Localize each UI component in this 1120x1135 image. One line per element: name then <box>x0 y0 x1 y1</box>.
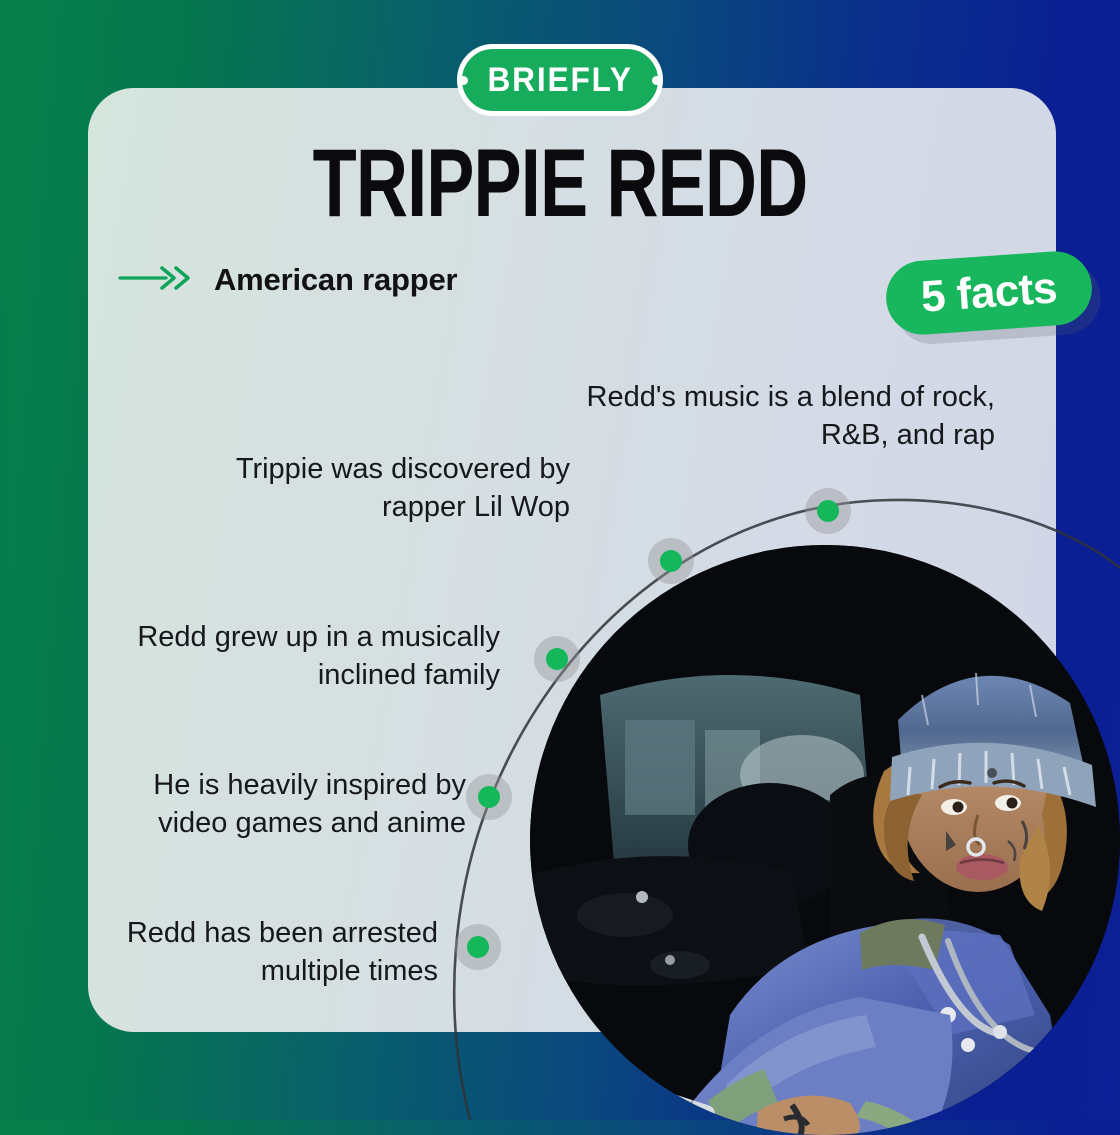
marker-dot-icon <box>478 786 500 808</box>
marker-dot-icon <box>467 936 489 958</box>
dot-icon-left <box>459 76 468 85</box>
double-chevron-right-arrow-icon <box>118 263 198 298</box>
fact-text-5: Redd has been arrested multiple times <box>90 914 438 991</box>
brand-name: BRIEFLY <box>487 61 632 100</box>
fact-text-4: He is heavily inspired by video games an… <box>78 766 466 843</box>
fact-text-3: Redd grew up in a musically inclined fam… <box>120 618 500 695</box>
dot-icon-right <box>652 76 661 85</box>
marker-dot-icon <box>660 550 682 572</box>
subtitle-row: American rapper <box>118 262 457 298</box>
briefly-logo-badge: BRIEFLY <box>457 44 663 116</box>
facts-count-badge: 5 facts <box>884 249 1095 337</box>
fact-text-2: Trippie was discovered by rapper Lil Wop <box>200 450 570 527</box>
facts-count-label: 5 facts <box>919 263 1058 322</box>
portrait-photo <box>530 545 1120 1135</box>
marker-dot-icon <box>817 500 839 522</box>
subtitle-label: American rapper <box>214 262 457 298</box>
page-title: TRIPPIE REDD <box>67 136 1053 233</box>
marker-dot-icon <box>546 648 568 670</box>
fact-text-1: Redd's music is a blend of rock, R&B, an… <box>560 378 995 455</box>
